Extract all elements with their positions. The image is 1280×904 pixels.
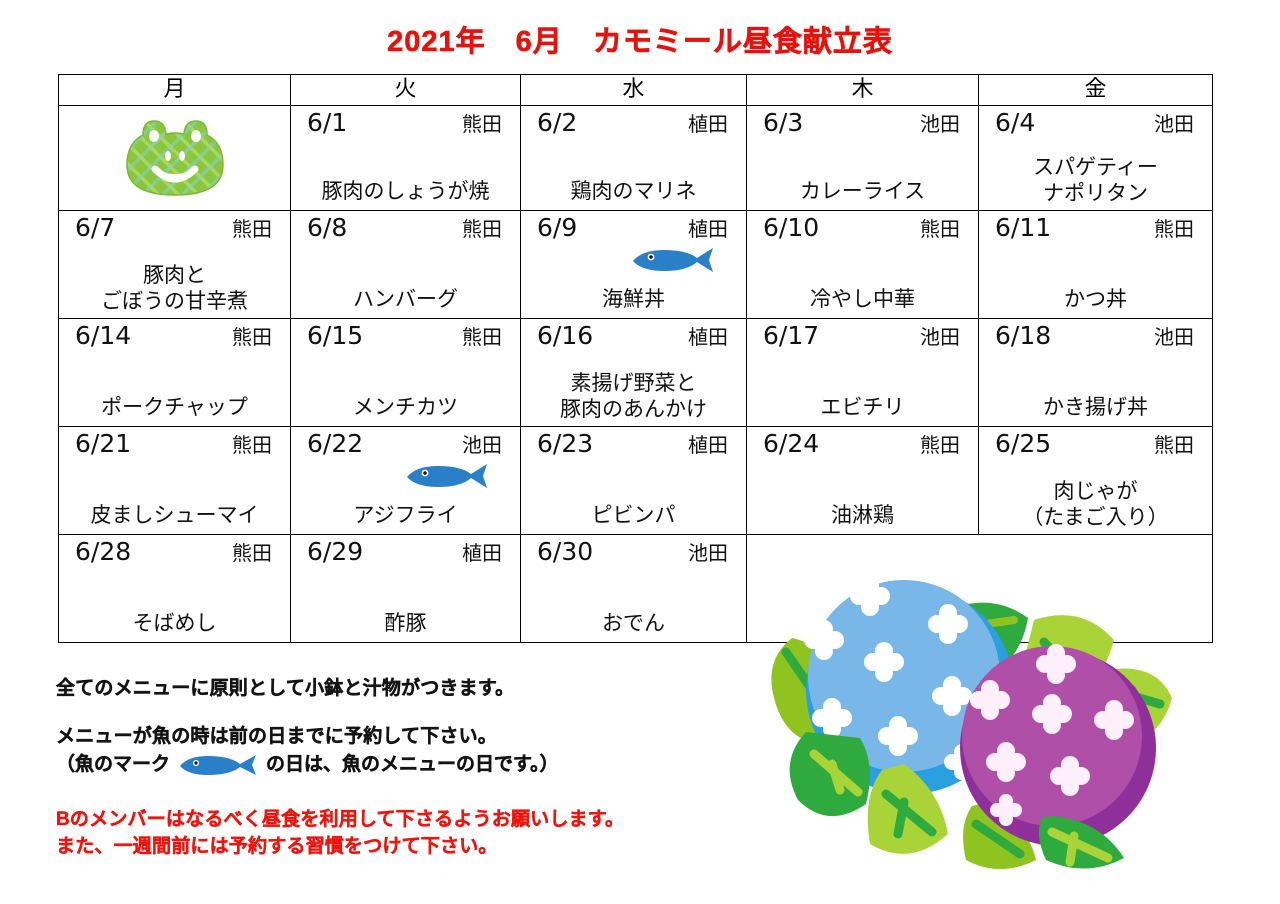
day-cook: 植田 [688,214,732,244]
weekday-header-fri: 金 [979,75,1213,106]
day-date: 6/1 [307,109,347,137]
day-menu: 酢豚 [291,611,520,636]
day-date: 6/16 [537,322,593,350]
day-cook: 池田 [1154,109,1198,139]
day-date: 6/11 [995,214,1051,242]
page-title: 2021年 6月 カモミール昼食献立表 [0,18,1280,60]
day-menu: 肉じゃが （たまご入り） [979,478,1212,530]
note-fish-reservation: メニューが魚の時は前の日までに予約して下さい。 [56,724,756,750]
calendar-day-cell: 6/28熊田そばめし [59,535,291,643]
day-cook: 熊田 [232,214,276,244]
day-menu: 海鮮丼 [521,287,746,312]
calendar-week-row: 6/21熊田皮ましシューマイ6/22池田 アジフライ6/23植田ピビンパ6/24… [59,427,1213,535]
calendar-day-cell: 6/10熊田冷やし中華 [747,211,979,319]
calendar-day-cell: 6/7熊田豚肉と ごぼうの甘辛煮 [59,211,291,319]
weekday-header-thu: 木 [747,75,979,106]
day-date: 6/9 [537,214,577,242]
calendar-day-cell: 6/21熊田皮ましシューマイ [59,427,291,535]
day-menu: そばめし [59,611,290,636]
calendar-illustration-cell [59,106,291,211]
day-menu: ピビンパ [521,503,746,528]
weekday-header-mon: 月 [59,75,291,106]
footer-notes: 全てのメニューに原則として小鉢と汁物がつきます。 メニューが魚の時は前の日までに… [56,676,756,860]
day-cook: 熊田 [232,538,276,568]
day-cook: 熊田 [462,214,506,244]
day-menu: 冷やし中華 [747,287,978,312]
day-date: 6/7 [75,214,115,242]
calendar-day-cell: 6/22池田 アジフライ [291,427,521,535]
day-cook: 池田 [920,322,964,352]
day-menu: スパゲティー ナポリタン [979,154,1212,206]
day-date: 6/24 [763,430,819,458]
note-b-member-request: Bのメンバーはなるべく昼食を利用して下さるようお願いします。 また、一週間前には… [56,806,756,860]
day-date: 6/14 [75,322,131,350]
day-date: 6/3 [763,109,803,137]
calendar-header-row: 月 火 水 木 金 [59,75,1213,106]
calendar-day-cell: 6/8熊田ハンバーグ [291,211,521,319]
calendar-body: 6/1熊田豚肉のしょうが焼6/2植田鶏肉のマリネ6/3池田カレーライス6/4池田… [59,106,1213,643]
calendar-day-cell: 6/14熊田ポークチャップ [59,319,291,427]
calendar-day-cell: 6/25熊田肉じゃが （たまご入り） [979,427,1213,535]
day-menu: 油淋鶏 [747,503,978,528]
calendar-week-row: 6/14熊田ポークチャップ6/15熊田メンチカツ6/16植田素揚げ野菜と 豚肉の… [59,319,1213,427]
calendar-day-cell: 6/16植田素揚げ野菜と 豚肉のあんかけ [521,319,747,427]
fish-icon [176,754,260,776]
day-date: 6/10 [763,214,819,242]
calendar-week-row: 6/7熊田豚肉と ごぼうの甘辛煮6/8熊田ハンバーグ6/9植田 海鮮丼6/10熊… [59,211,1213,319]
day-cook: 熊田 [232,430,276,460]
calendar-illustration-cell [747,535,1213,643]
day-cook: 熊田 [462,109,506,139]
calendar-day-cell: 6/18池田かき揚げ丼 [979,319,1213,427]
fish-icon [630,247,716,273]
day-menu: 素揚げ野菜と 豚肉のあんかけ [521,370,746,422]
calendar-day-cell: 6/9植田 海鮮丼 [521,211,747,319]
note-fish-mark-after: の日は、魚のメニューの日です。） [266,750,559,780]
day-date: 6/15 [307,322,363,350]
day-menu: 鶏肉のマリネ [521,179,746,204]
calendar-day-cell: 6/4池田スパゲティー ナポリタン [979,106,1213,211]
day-date: 6/25 [995,430,1051,458]
day-menu: 豚肉と ごぼうの甘辛煮 [59,262,290,314]
day-cook: 植田 [688,430,732,460]
day-cook: 池田 [462,430,506,460]
day-date: 6/21 [75,430,131,458]
day-date: 6/17 [763,322,819,350]
day-menu: かつ丼 [979,287,1212,312]
weekday-header-wed: 水 [521,75,747,106]
day-menu: アジフライ [291,503,520,528]
day-date: 6/22 [307,430,363,458]
note-fish-mark-line: （魚のマーク の日は、魚のメニューの日です。） [56,750,756,780]
day-date: 6/28 [75,538,131,566]
fish-icon [404,463,490,489]
day-menu: おでん [521,611,746,636]
day-cook: 植田 [688,322,732,352]
calendar-day-cell: 6/1熊田豚肉のしょうが焼 [291,106,521,211]
day-menu: ポークチャップ [59,395,290,420]
day-cook: 植田 [688,109,732,139]
note-fish-mark-before: （魚のマーク [56,750,170,780]
day-menu: 皮ましシューマイ [59,503,290,528]
day-cook: 池田 [920,109,964,139]
day-cook: 熊田 [1154,214,1198,244]
calendar-day-cell: 6/15熊田メンチカツ [291,319,521,427]
day-cook: 池田 [688,538,732,568]
note-kobachi: 全てのメニューに原則として小鉢と汁物がつきます。 [56,676,756,702]
day-date: 6/18 [995,322,1051,350]
menu-calendar: 月 火 水 木 金 6/1熊田豚肉のしょう [58,74,1212,643]
weekday-header-tue: 火 [291,75,521,106]
day-date: 6/4 [995,109,1035,137]
calendar-day-cell: 6/29植田酢豚 [291,535,521,643]
day-date: 6/30 [537,538,593,566]
day-menu: カレーライス [747,179,978,204]
day-menu: ハンバーグ [291,287,520,312]
calendar-day-cell: 6/17池田エビチリ [747,319,979,427]
day-cook: 熊田 [920,214,964,244]
calendar-week-row: 6/28熊田そばめし6/29植田酢豚6/30池田おでん [59,535,1213,643]
day-menu: メンチカツ [291,395,520,420]
calendar-day-cell: 6/11熊田かつ丼 [979,211,1213,319]
day-menu: かき揚げ丼 [979,395,1212,420]
day-menu: エビチリ [747,395,978,420]
calendar-day-cell: 6/24熊田油淋鶏 [747,427,979,535]
day-cook: 熊田 [920,430,964,460]
calendar-table: 月 火 水 木 金 6/1熊田豚肉のしょう [58,74,1213,643]
day-cook: 植田 [462,538,506,568]
frog-icon [121,115,229,201]
calendar-day-cell: 6/30池田おでん [521,535,747,643]
calendar-week-row: 6/1熊田豚肉のしょうが焼6/2植田鶏肉のマリネ6/3池田カレーライス6/4池田… [59,106,1213,211]
day-date: 6/23 [537,430,593,458]
calendar-day-cell: 6/23植田ピビンパ [521,427,747,535]
day-cook: 熊田 [1154,430,1198,460]
day-cook: 池田 [1154,322,1198,352]
calendar-day-cell: 6/3池田カレーライス [747,106,979,211]
day-menu: 豚肉のしょうが焼 [291,179,520,204]
day-date: 6/8 [307,214,347,242]
day-date: 6/29 [307,538,363,566]
day-cook: 熊田 [232,322,276,352]
calendar-day-cell: 6/2植田鶏肉のマリネ [521,106,747,211]
day-cook: 熊田 [462,322,506,352]
day-date: 6/2 [537,109,577,137]
